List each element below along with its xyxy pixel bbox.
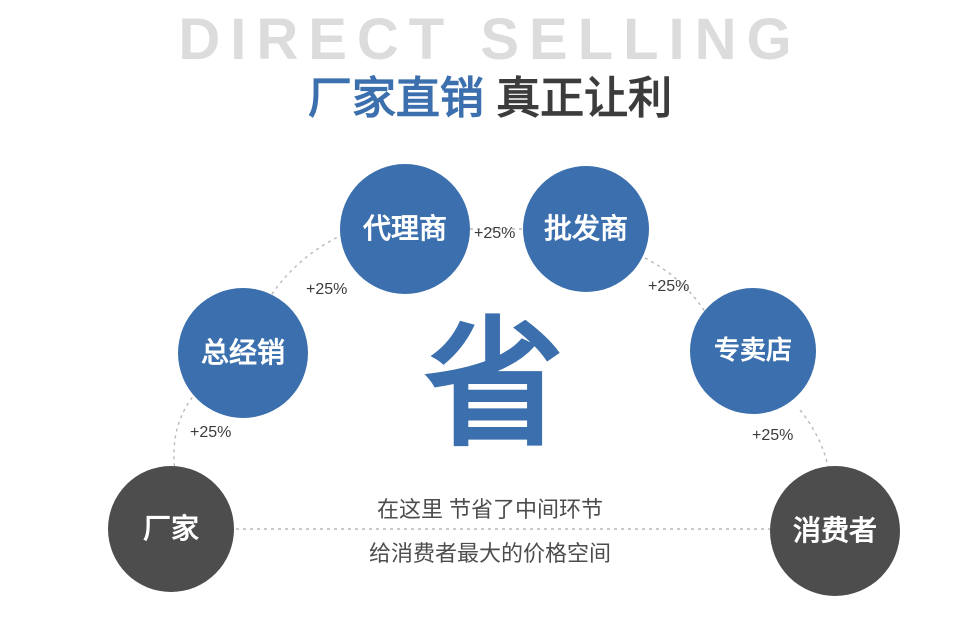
node-agent[interactable]: 代理商 xyxy=(340,164,470,294)
markup-label-agent-wholesaler: +25% xyxy=(474,225,515,243)
node-store-label: 专卖店 xyxy=(714,336,792,366)
page-title-primary: 厂家直销 xyxy=(308,74,484,123)
page-title: 厂家直销 真正让利 xyxy=(0,62,980,126)
node-factory[interactable]: 厂家 xyxy=(108,466,234,592)
node-wholesaler[interactable]: 批发商 xyxy=(523,166,649,292)
caption-line-2: 给消费者最大的价格空间 xyxy=(0,536,980,568)
node-consumer[interactable]: 消费者 xyxy=(770,466,900,596)
node-wholesaler-label: 批发商 xyxy=(544,213,628,245)
node-distributor-label: 总经销 xyxy=(201,337,285,369)
node-agent-label: 代理商 xyxy=(363,213,447,245)
caption-line-1: 在这里 节省了中间环节 xyxy=(0,492,980,524)
node-store[interactable]: 专卖店 xyxy=(690,288,816,414)
savings-character: 省 xyxy=(404,315,584,455)
markup-label-wholesaler-store: +25% xyxy=(648,278,689,296)
diagram-canvas: DIRECT SELLING 厂家直销 真正让利 厂家 总经销 代理商 批发 xyxy=(0,0,980,641)
markup-label-factory-distributor: +25% xyxy=(190,424,231,442)
node-distributor[interactable]: 总经销 xyxy=(178,288,308,418)
page-title-secondary: 真正让利 xyxy=(484,74,672,123)
markup-label-distributor-agent: +25% xyxy=(306,281,347,299)
markup-label-store-consumer: +25% xyxy=(752,427,793,445)
